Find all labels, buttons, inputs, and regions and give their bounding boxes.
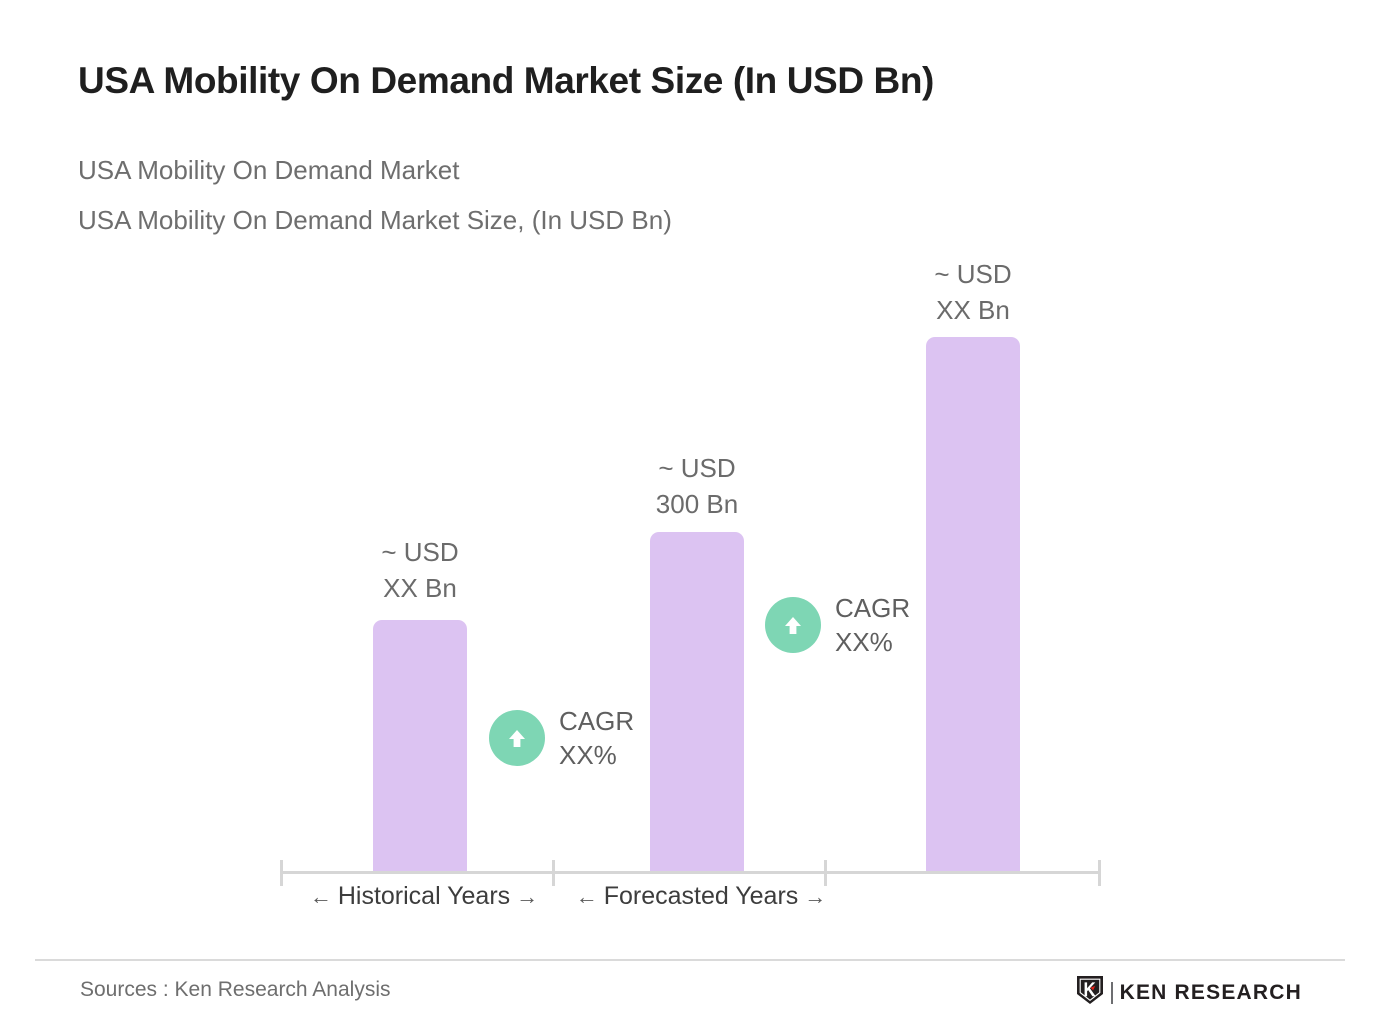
- axis-caption-text: Forecasted Years: [604, 882, 799, 910]
- cagr-label: CAGR XX%: [559, 704, 634, 772]
- arrow-left-icon: ←: [304, 884, 338, 909]
- sources-text: Sources : Ken Research Analysis: [80, 978, 391, 1002]
- arrow-up-icon: [765, 597, 821, 653]
- bar-value-label: ~ USD XX Bn: [873, 256, 1073, 328]
- slide-canvas: USA Mobility On Demand Market Size (In U…: [0, 0, 1380, 1035]
- ken-research-wordmark: KEN RESEARCH: [1120, 981, 1302, 1005]
- logo-divider: [1111, 982, 1113, 1004]
- bar-value-label: ~ USD 300 Bn: [597, 450, 797, 522]
- arrow-left-icon: ←: [570, 884, 604, 909]
- bar-forecast[interactable]: [926, 337, 1020, 873]
- axis-caption-forecasted: ←Forecasted Years→: [565, 882, 837, 911]
- bar-chart: ~ USD XX Bn ~ USD 300 Bn ~ USD XX Bn CAG…: [0, 0, 1380, 1035]
- arrow-up-icon: [489, 710, 545, 766]
- ken-research-logo: KEN RESEARCH: [1076, 975, 1302, 1010]
- cagr-annotation-1: CAGR XX%: [489, 704, 634, 772]
- x-axis-tick: [1098, 860, 1101, 886]
- x-axis-tick: [280, 860, 283, 886]
- axis-caption-text: Historical Years: [338, 882, 510, 910]
- cagr-label: CAGR XX%: [835, 591, 910, 659]
- bar-historical[interactable]: [373, 620, 467, 873]
- ken-research-logo-mark: [1076, 975, 1104, 1010]
- footer-divider: [35, 959, 1345, 961]
- x-axis-line: [280, 871, 1100, 874]
- arrow-right-icon: →: [510, 884, 544, 909]
- arrow-right-icon: →: [798, 884, 832, 909]
- axis-caption-historical: ←Historical Years→: [288, 882, 560, 911]
- bar-base-year[interactable]: [650, 532, 744, 873]
- bar-value-label: ~ USD XX Bn: [320, 534, 520, 606]
- cagr-annotation-2: CAGR XX%: [765, 591, 910, 659]
